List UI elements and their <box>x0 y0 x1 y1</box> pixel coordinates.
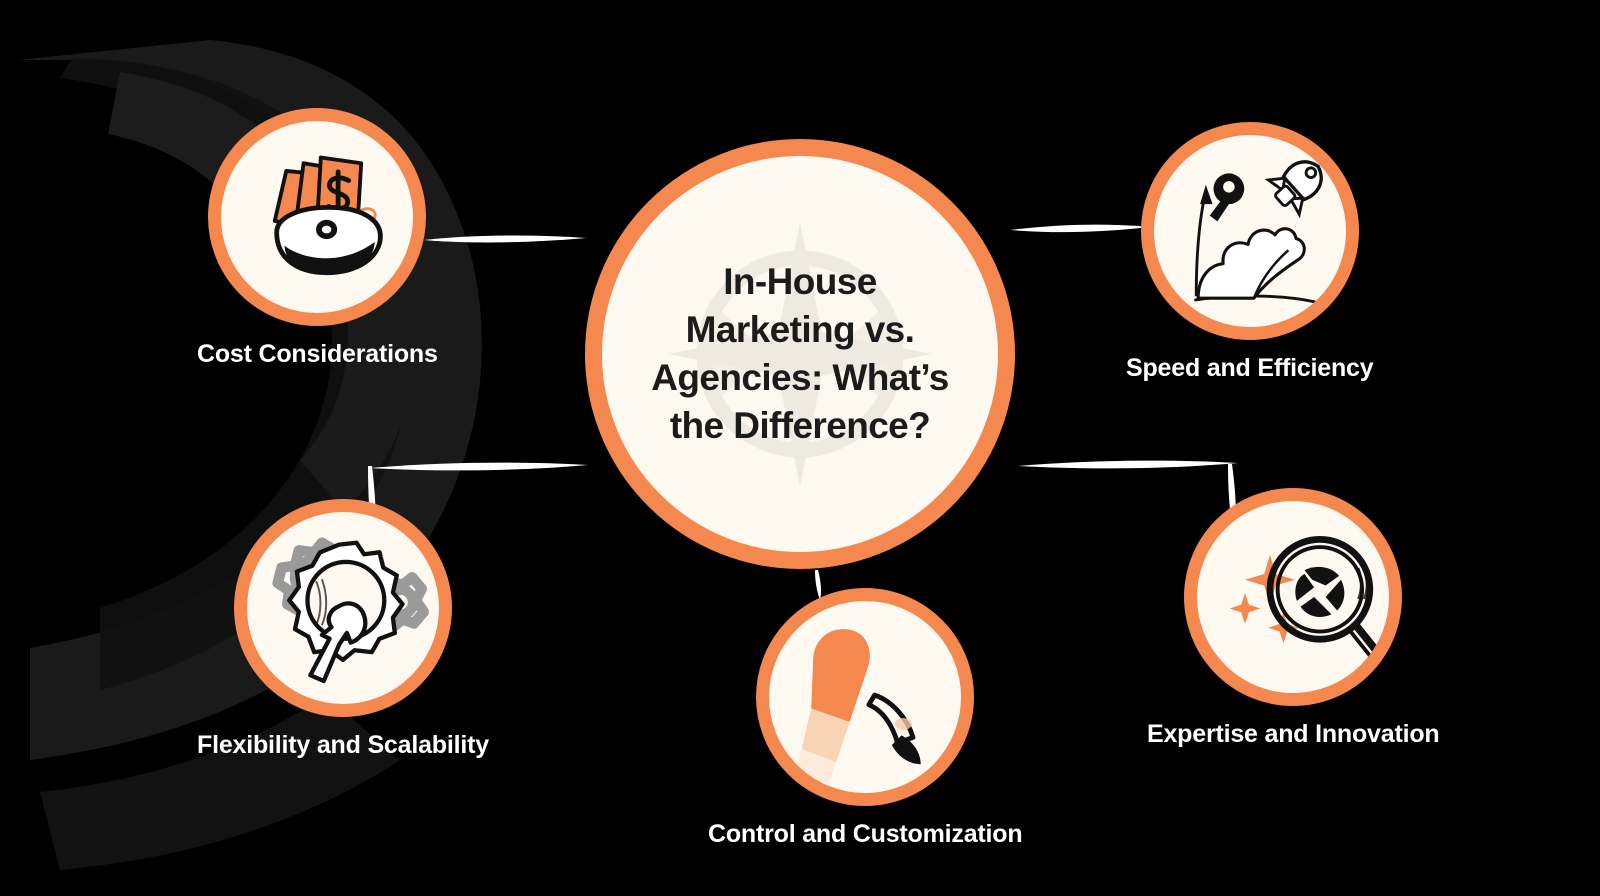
gears-and-wrench-icon <box>247 512 439 704</box>
pen-stylus-icon <box>769 601 961 793</box>
lens-inner-shape <box>1296 567 1345 617</box>
node-cost[interactable]: Cost Considerations <box>197 108 438 369</box>
speed-bubble[interactable] <box>1141 122 1359 340</box>
flexibility-connector-horizontal <box>370 463 588 471</box>
wallet-with-cash-icon <box>221 121 413 313</box>
flexibility-bubble[interactable] <box>234 499 452 717</box>
center-title-line: the Difference? <box>625 402 975 450</box>
infographic-canvas: In-House Marketing vs. Agencies: What’s … <box>0 0 1600 896</box>
control-label: Control and Customization <box>708 820 1022 849</box>
rocket-launch-icon <box>1154 135 1346 327</box>
expertise-connector-horizontal <box>1018 461 1238 469</box>
center-node[interactable]: In-House Marketing vs. Agencies: What’s … <box>585 139 1015 569</box>
cost-connector <box>424 236 586 243</box>
node-expertise[interactable]: Expertise and Innovation <box>1147 488 1439 749</box>
flexibility-label: Flexibility and Scalability <box>197 731 489 760</box>
pen-body <box>811 629 870 722</box>
expertise-bubble[interactable] <box>1184 488 1402 706</box>
center-title-line: Agencies: What’s <box>625 354 975 402</box>
control-bubble[interactable] <box>756 588 974 806</box>
cost-label: Cost Considerations <box>197 340 438 369</box>
node-speed[interactable]: Speed and Efficiency <box>1126 122 1373 383</box>
expertise-label: Expertise and Innovation <box>1147 720 1439 749</box>
center-bubble[interactable]: In-House Marketing vs. Agencies: What’s … <box>585 139 1015 569</box>
center-title-line: In-House <box>625 258 975 306</box>
node-control[interactable]: Control and Customization <box>708 588 1022 849</box>
cost-bubble[interactable] <box>208 108 426 326</box>
center-title: In-House Marketing vs. Agencies: What’s … <box>625 258 975 450</box>
speed-label: Speed and Efficiency <box>1126 354 1373 383</box>
magnifier-with-sparkles-icon <box>1197 501 1389 693</box>
center-title-line: Marketing vs. <box>625 306 975 354</box>
node-flexibility[interactable]: Flexibility and Scalability <box>197 499 489 760</box>
